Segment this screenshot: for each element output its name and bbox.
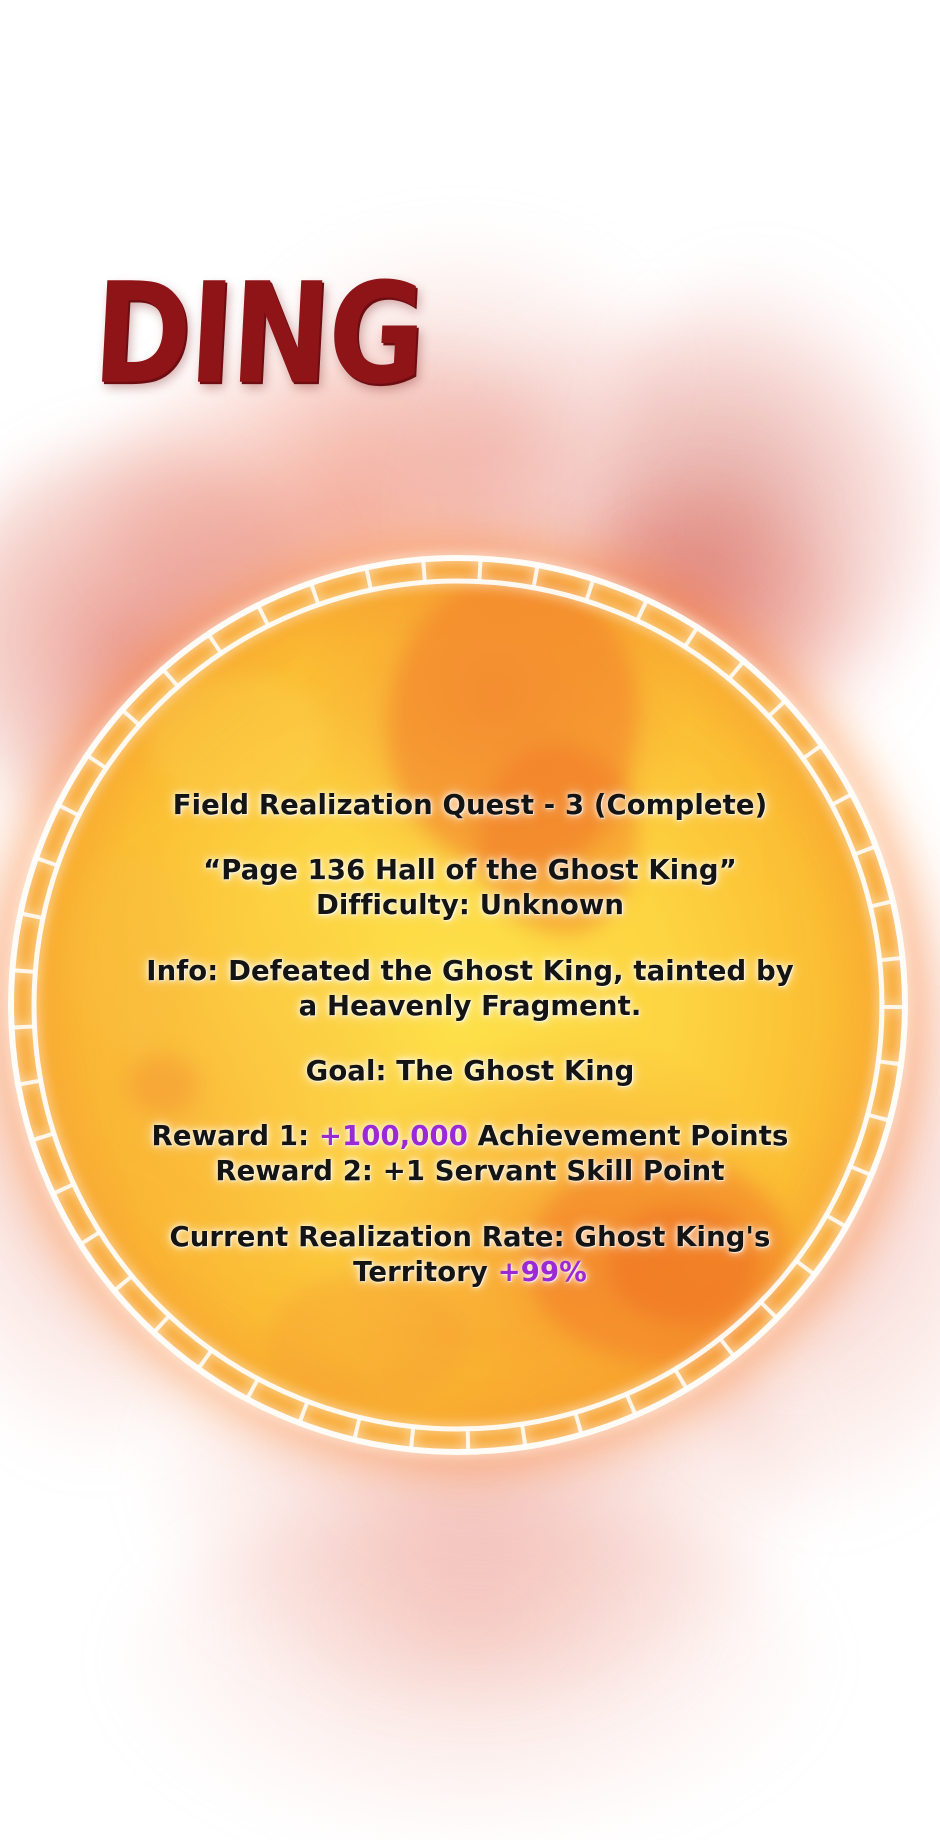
info-paragraph: Info: Defeated the Ghost King, tainted b…: [70, 954, 870, 1024]
dungeon-paragraph: “Page 136 Hall of the Ghost King” Diffic…: [70, 853, 870, 923]
smoke-cloud: [120, 1500, 820, 1840]
rewards-paragraph: Reward 1: +100,000 Achievement Points Re…: [70, 1119, 870, 1189]
reward-1-prefix: Reward 1:: [152, 1120, 319, 1152]
realization-rate-value: +99%: [498, 1256, 587, 1288]
goal-paragraph: Goal: The Ghost King: [70, 1054, 870, 1089]
quest-notification-text: Field Realization Quest - 3 (Complete) “…: [70, 788, 870, 1290]
realization-rate-prefix: Territory: [353, 1256, 497, 1288]
reward-1-value: +100,000: [319, 1120, 468, 1152]
reward-2: Reward 2: +1 Servant Skill Point: [70, 1154, 870, 1189]
dungeon-name: “Page 136 Hall of the Ghost King”: [70, 853, 870, 888]
realization-rate-line-1: Current Realization Rate: Ghost King's: [70, 1220, 870, 1255]
realization-rate-line-2: Territory +99%: [70, 1255, 870, 1290]
sfx-ding: DING: [89, 252, 427, 415]
comic-panel: DING Field Realization Quest - 3 (Comple…: [0, 0, 940, 1840]
info-line-1: Info: Defeated the Ghost King, tainted b…: [70, 954, 870, 989]
goal: Goal: The Ghost King: [70, 1054, 870, 1089]
difficulty: Difficulty: Unknown: [70, 888, 870, 923]
quest-title-paragraph: Field Realization Quest - 3 (Complete): [70, 788, 870, 823]
reward-1-suffix: Achievement Points: [468, 1120, 788, 1152]
quest-title: Field Realization Quest - 3 (Complete): [70, 788, 870, 823]
realization-rate-paragraph: Current Realization Rate: Ghost King's T…: [70, 1220, 870, 1290]
info-line-2: a Heavenly Fragment.: [70, 989, 870, 1024]
reward-1: Reward 1: +100,000 Achievement Points: [70, 1119, 870, 1154]
